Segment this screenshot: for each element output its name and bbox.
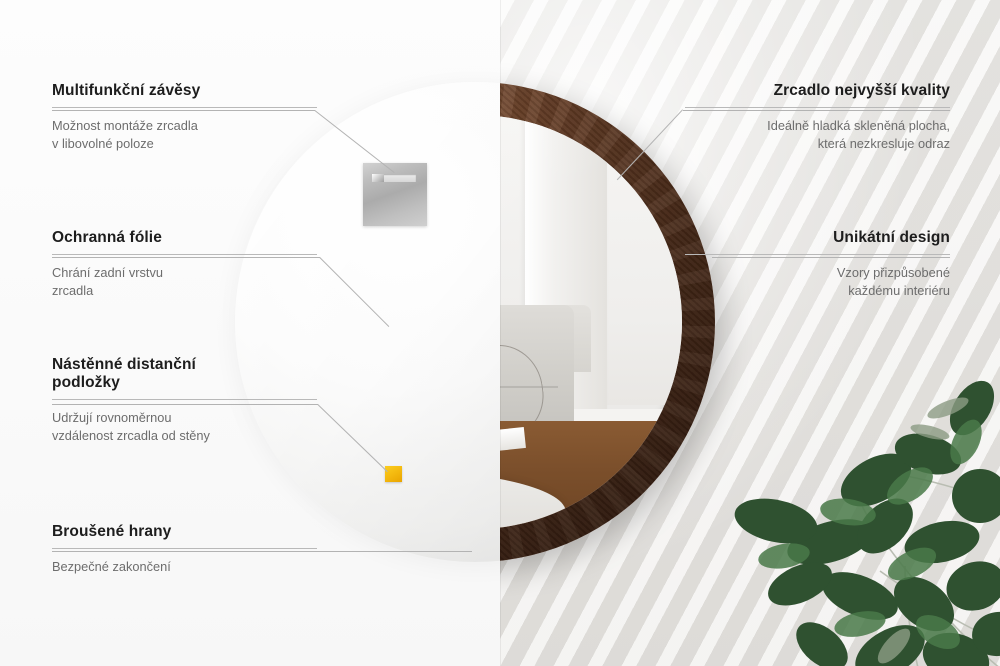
callout-rule [52,107,317,108]
disc-sheen-overlay [235,82,500,562]
callout-desc-line2: vzdálenost zrcadla od stěny [52,427,317,445]
callout-desc-line1: Ideálně hladká skleněná plocha, [685,117,950,135]
callout-desc-line1: Chrání zadní vrstvu [52,264,317,282]
callout-desc-line2: v libovolné poloze [52,135,317,153]
callout-title: Zrcadlo nejvyšší kvality [685,82,950,100]
hanger-plate [363,163,427,226]
callout-title: Unikátní design [685,229,950,247]
green-plant-foliage [680,346,1000,666]
panel-divider [500,0,501,666]
callout-multifunkcni-zavesy: Multifunkční závěsy Možnost montáže zrca… [52,82,317,153]
callout-zrcadlo-nejvyssi-kvality: Zrcadlo nejvyšší kvality Ideálně hladká … [685,82,950,153]
mirror-glass-reflection [500,115,682,529]
callout-title: Ochranná fólie [52,229,317,247]
callout-brousene-hrany: Broušené hrany Bezpečné zakončení [52,523,317,576]
callout-rule [685,254,950,255]
callout-rule [685,107,950,108]
callout-desc-line1: Možnost montáže zrcadla [52,117,317,135]
callout-title: Multifunkční závěsy [52,82,317,100]
callout-title-line2: podložky [52,374,317,392]
callout-desc-line2: která nezkresluje odraz [685,135,950,153]
wall-spacer-pad [385,466,402,482]
callout-title: Nástěnné distanční podložky [52,356,317,392]
callout-desc-line1: Udržují rovnoměrnou [52,409,317,427]
callout-title-line1: Nástěnné distanční [52,356,317,374]
hanger-slot-icon [372,174,416,182]
infographic-canvas: Multifunkční závěsy Možnost montáže zrca… [0,0,1000,666]
callout-rule [52,548,317,549]
callout-unikatni-design: Unikátní design Vzory přizpůsobené každé… [685,229,950,300]
callout-desc-line2: zrcadla [52,282,317,300]
callout-desc-line1: Bezpečné zakončení [52,558,317,576]
callout-title: Broušené hrany [52,523,317,541]
callout-desc-line1: Vzory přizpůsobené [685,264,950,282]
callout-nastenne-distancni-podlozky: Nástěnné distanční podložky Udržují rovn… [52,356,317,445]
callout-rule [52,254,317,255]
callout-rule [52,399,317,400]
callout-ochranna-folie: Ochranná fólie Chrání zadní vrstvu zrcad… [52,229,317,300]
callout-desc-line2: každému interiéru [685,282,950,300]
